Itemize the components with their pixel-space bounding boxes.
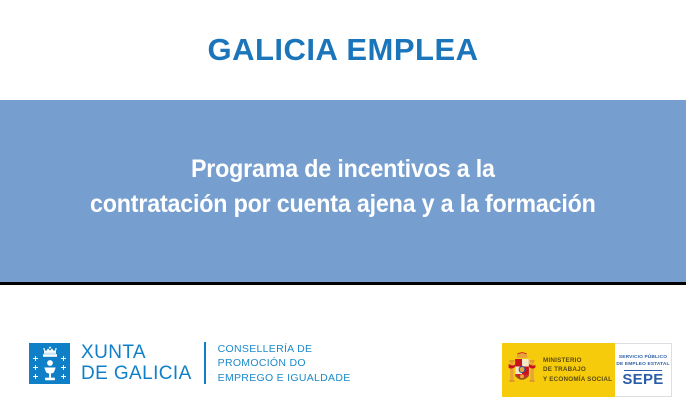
- xunta-wordmark: XUNTA DE GALICIA: [81, 342, 192, 385]
- xunta-de-galicia-logo: XUNTA DE GALICIA CONSELLERÍA DE PROMOCIÓ…: [29, 342, 351, 385]
- logo-divider: [204, 342, 206, 384]
- cross-icon: [61, 374, 66, 379]
- ministry-label: MINISTERIO DE TRABAJO Y ECONOMÍA SOCIAL: [543, 356, 612, 384]
- program-banner: Programa de incentivos a la contratación…: [0, 100, 686, 282]
- cross-icon: [33, 374, 38, 379]
- cross-icon: [61, 365, 66, 370]
- ministry-sepe-logo: MINISTERIO DE TRABAJO Y ECONOMÍA SOCIAL …: [502, 343, 672, 397]
- cross-icon: [33, 365, 38, 370]
- cross-icon: [61, 356, 66, 361]
- spain-coat-of-arms-icon: [506, 351, 538, 389]
- sepe-subtitle: SERVICIO PÚBLICO DE EMPLEO ESTATAL: [616, 355, 669, 369]
- cross-icon: [33, 356, 38, 361]
- sepe-acronym: SEPE: [622, 372, 663, 388]
- page-title: GALICIA EMPLEA: [207, 34, 478, 67]
- program-subtitle: Programa de incentivos a la contratación…: [90, 152, 596, 231]
- conselleria-label: CONSELLERÍA DE PROMOCIÓN DO EMPREGO E IG…: [218, 342, 351, 384]
- chalice-icon: [42, 360, 57, 381]
- sepe-block: SERVICIO PÚBLICO DE EMPLEO ESTATAL SEPE: [615, 343, 672, 397]
- header-area: GALICIA EMPLEA: [0, 0, 686, 100]
- footer-area: XUNTA DE GALICIA CONSELLERÍA DE PROMOCIÓ…: [0, 285, 686, 410]
- crown-icon: [40, 346, 59, 358]
- ministry-block: MINISTERIO DE TRABAJO Y ECONOMÍA SOCIAL: [502, 343, 615, 397]
- galicia-coat-of-arms-icon: [29, 343, 70, 384]
